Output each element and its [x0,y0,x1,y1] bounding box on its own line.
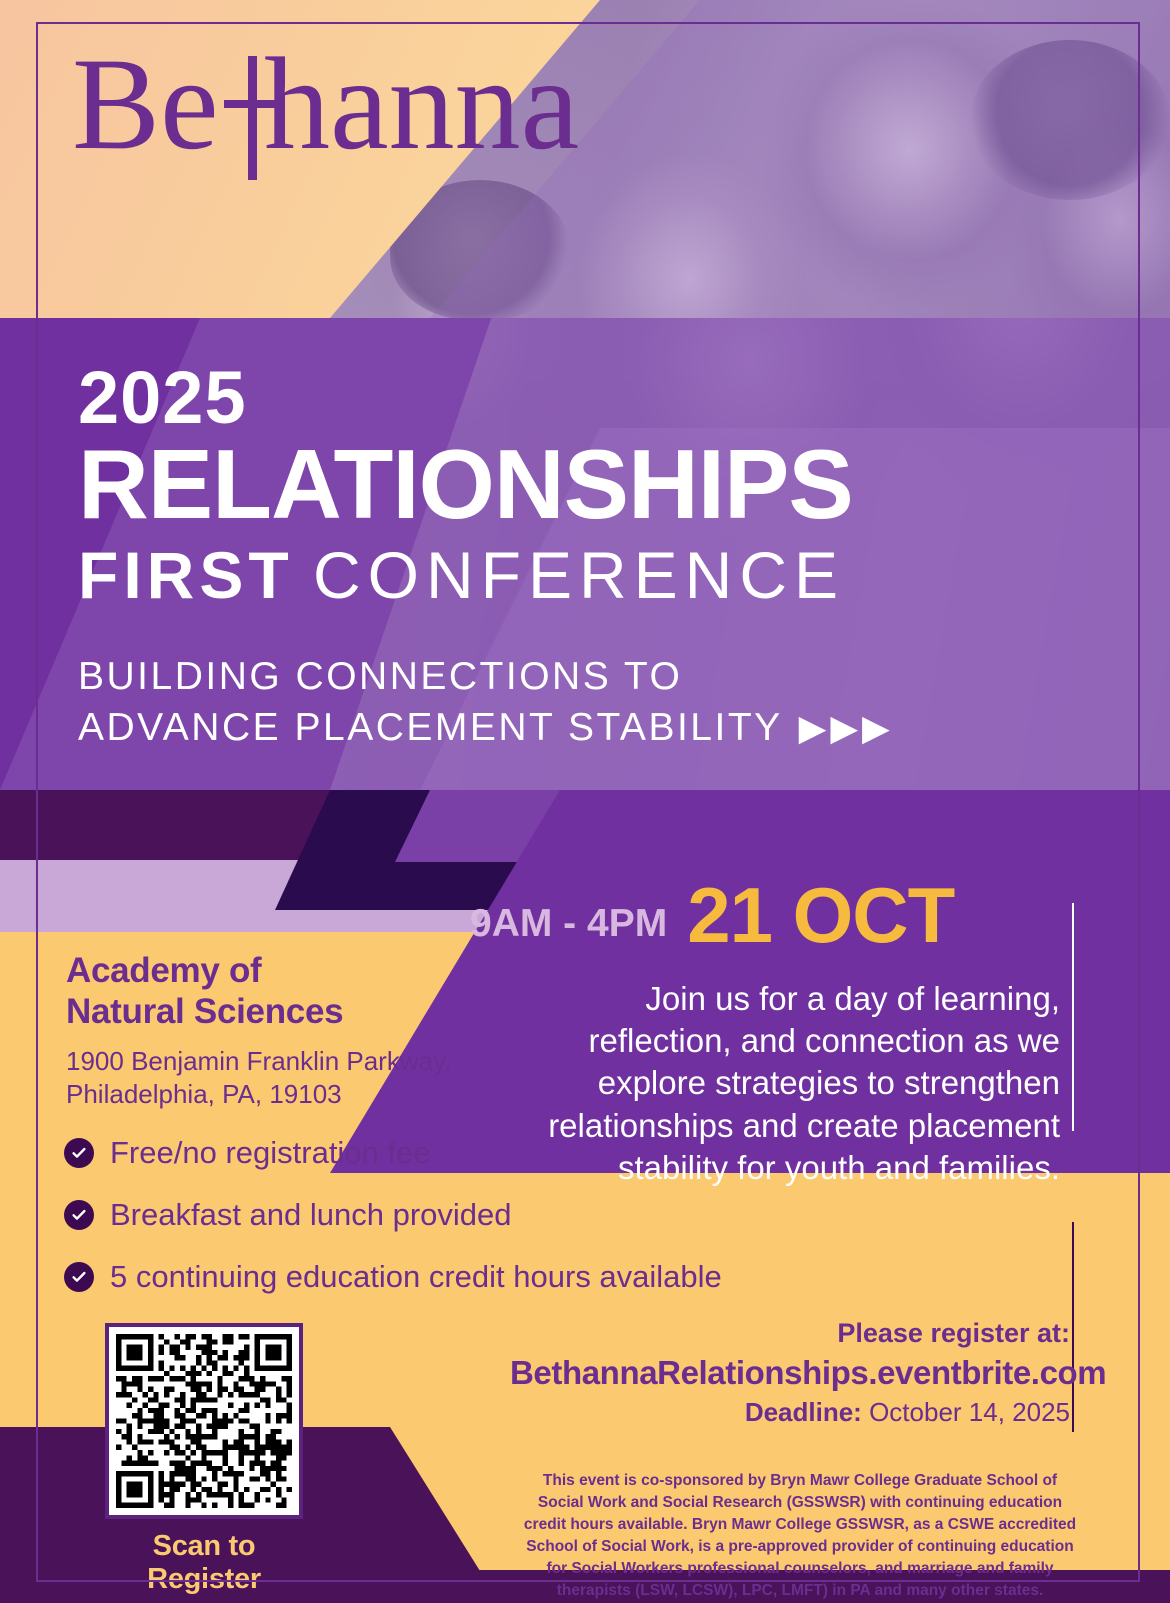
venue-name: Academy of Natural Sciences [66,950,451,1033]
check-circle-icon [64,1262,94,1292]
venue-name-line-2: Natural Sciences [66,991,451,1032]
feature-label: Free/no registration fee [110,1137,431,1168]
feature-list: Free/no registration fee Breakfast and l… [64,1137,722,1323]
register-url[interactable]: BethannaRelationships.eventbrite.com [510,1354,1070,1392]
venue-address-line-2: Philadelphia, PA, 19103 [66,1078,451,1112]
date-time-block: 9AM - 4PM 21 OCT [470,880,1080,952]
register-lead: Please register at: [510,1318,1070,1349]
registration-block: Please register at: BethannaRelationship… [510,1318,1070,1428]
deadline-value: October 14, 2025 [869,1397,1070,1427]
list-item: Breakfast and lunch provided [64,1199,722,1230]
deadline-label: Deadline: [745,1397,862,1427]
svg-text:Be: Be [72,40,219,177]
tagline-line-1: BUILDING CONNECTIONS TO [78,651,1170,702]
qr-code-icon[interactable] [105,1323,303,1519]
event-subtitle: FIRST CONFERENCE [78,541,1170,611]
check-circle-icon [64,1200,94,1230]
tagline-line-2: ADVANCE PLACEMENT STABILITY [78,706,783,749]
event-subtitle-bold: FIRST [78,538,294,612]
hero-panel: 2025 RELATIONSHIPS FIRST CONFERENCE BUIL… [0,318,1170,790]
event-subtitle-light: CONFERENCE [313,538,845,612]
triangle-arrows-icon: ▶▶▶ [799,704,894,752]
check-circle-icon [64,1138,94,1168]
bethanna-logo-icon: Be hanna [72,40,592,180]
event-title: RELATIONSHIPS [78,435,1170,535]
venue-block: Academy of Natural Sciences 1900 Benjami… [66,950,451,1112]
event-tagline: BUILDING CONNECTIONS TO ADVANCE PLACEMEN… [78,651,1170,754]
list-item: Free/no registration fee [64,1137,722,1168]
list-item: 5 continuing education credit hours avai… [64,1261,722,1292]
disclaimer-text: This event is co-sponsored by Bryn Mawr … [520,1470,1080,1602]
venue-name-line-1: Academy of [66,950,451,991]
qr-block[interactable]: Scan to Register [105,1323,303,1596]
event-year: 2025 [78,362,1170,433]
register-deadline: Deadline: October 14, 2025 [510,1397,1070,1428]
venue-address-line-1: 1900 Benjamin Franklin Parkway, [66,1045,451,1079]
feature-label: 5 continuing education credit hours avai… [110,1261,722,1292]
event-poster: Be hanna Bethanna 2025 RELATIONSHIPS FIR… [0,0,1170,1603]
tagline-line-2-wrap: ADVANCE PLACEMENT STABILITY▶▶▶ [78,702,1170,753]
divider-vertical-light [1072,903,1074,1131]
venue-address: 1900 Benjamin Franklin Parkway, Philadel… [66,1045,451,1113]
event-date: 21 OCT [687,880,954,952]
event-time: 9AM - 4PM [470,880,667,946]
qr-label: Scan to Register [105,1530,303,1596]
svg-text:hanna: hanna [264,40,579,177]
logo: Be hanna Bethanna [72,40,592,185]
feature-label: Breakfast and lunch provided [110,1199,512,1230]
divider-vertical-dark [1072,1222,1074,1432]
